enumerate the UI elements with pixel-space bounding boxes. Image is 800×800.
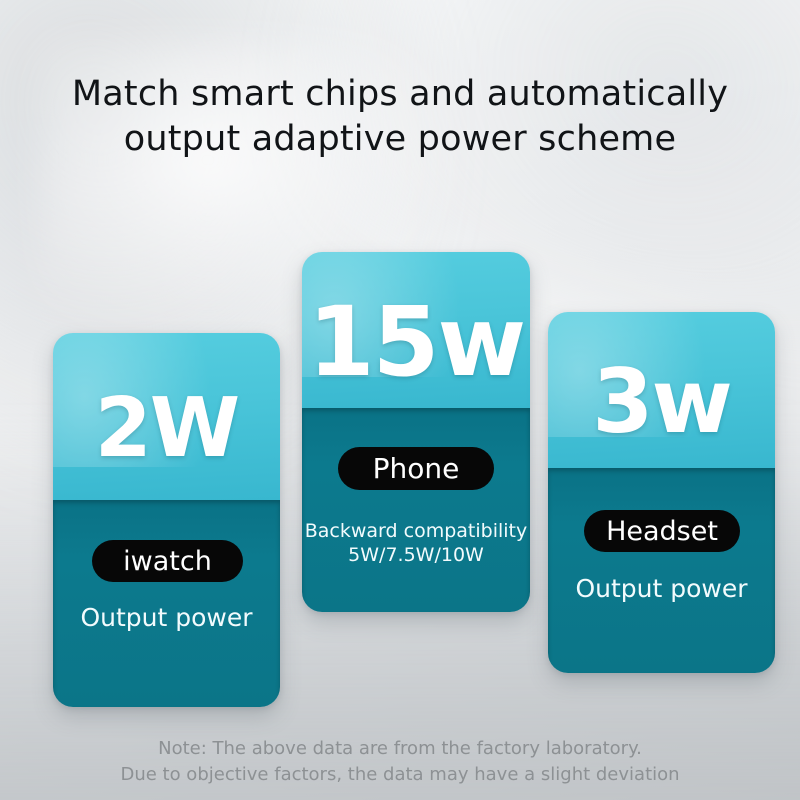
poster-root: Match smart chips and automatically outp…	[0, 0, 800, 800]
wattage-value-phone: 15w	[302, 294, 530, 390]
wattage-value-headset: 3w	[548, 358, 775, 446]
footnote-disclaimer: Note: The above data are from the factor…	[0, 736, 800, 788]
headline-text: Match smart chips and automatically outp…	[0, 72, 800, 162]
card-caption-iwatch: Output power	[53, 603, 280, 633]
device-badge-headset: Headset	[584, 510, 740, 552]
wattage-value-iwatch: 2W	[53, 388, 280, 470]
card-bottom-section-phone	[302, 408, 530, 612]
power-card-iwatch: 2W iwatch Output power	[53, 333, 280, 707]
device-badge-iwatch: iwatch	[92, 540, 243, 582]
card-caption-phone: Backward compatibility 5W/7.5W/10W	[302, 519, 530, 567]
power-card-phone: 15w Phone Backward compatibility 5W/7.5W…	[302, 252, 530, 612]
device-badge-phone: Phone	[338, 447, 494, 490]
power-card-headset: 3w Headset Output power	[548, 312, 775, 673]
card-caption-headset: Output power	[548, 574, 775, 604]
card-bottom-section-headset	[548, 468, 775, 673]
